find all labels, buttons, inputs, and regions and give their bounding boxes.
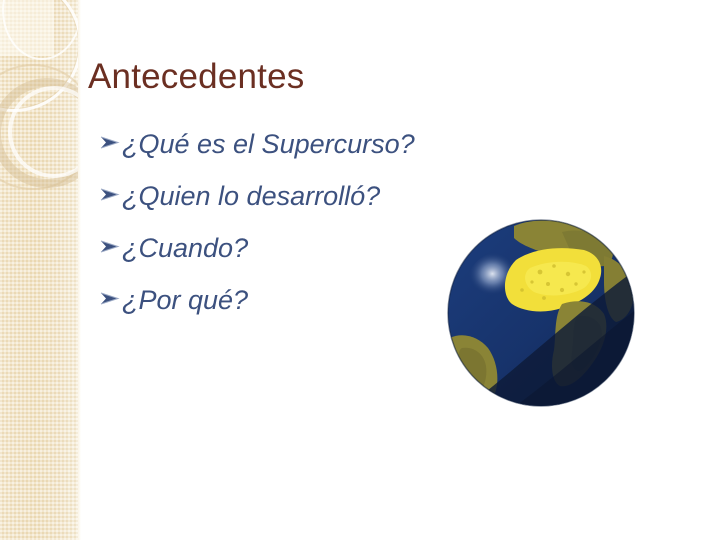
list-item-label: ¿Quien lo desarrolló?: [122, 179, 380, 213]
slide-canvas: Antecedentes ¿Qué es el Supercurso? ¿Qui…: [0, 0, 720, 540]
arrowhead-bullet-icon: [100, 133, 122, 167]
globe-icon: [444, 216, 638, 410]
arrowhead-bullet-icon: [100, 289, 122, 323]
arrowhead-bullet-icon: [100, 237, 122, 271]
list-item: ¿Qué es el Supercurso?: [100, 124, 520, 176]
list-item-label: ¿Por qué?: [122, 283, 248, 317]
list-item-label: ¿Qué es el Supercurso?: [122, 127, 415, 161]
page-title: Antecedentes: [88, 56, 304, 98]
sidebar-decoration: [0, 0, 78, 540]
list-item-label: ¿Cuando?: [122, 231, 248, 265]
sidebar-edge: [78, 0, 81, 540]
arrowhead-bullet-icon: [100, 185, 122, 219]
